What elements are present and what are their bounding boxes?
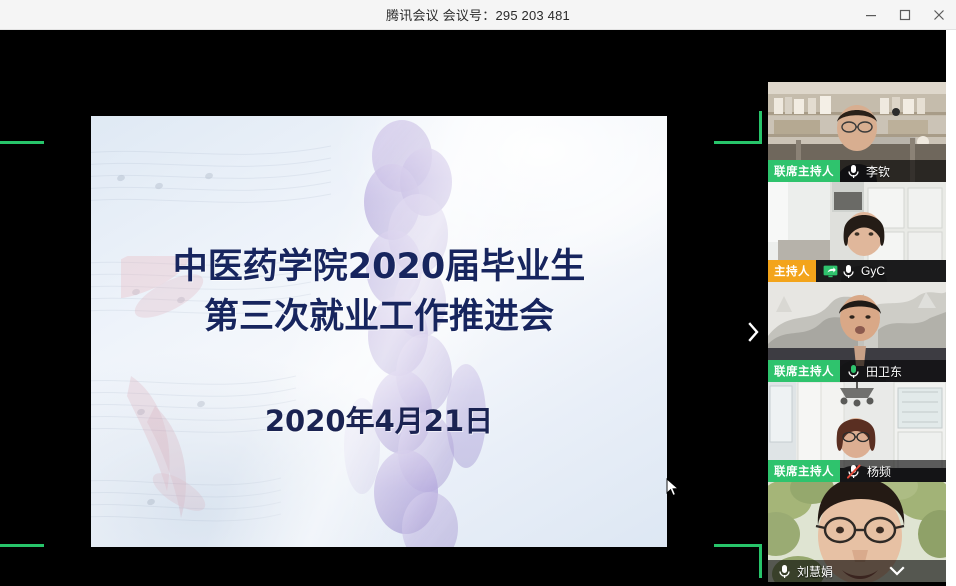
participant-role-badge: 主持人 [768, 260, 816, 282]
mouse-pointer-icon [666, 478, 680, 498]
window-title-bar: 腾讯会议 会议号：295 203 481 [0, 0, 956, 30]
participant-filmstrip[interactable]: 联席主持人 李钦 [768, 82, 946, 586]
microphone-active-icon [847, 364, 860, 379]
participant-tile[interactable]: 联席主持人 李钦 [768, 82, 946, 182]
participant-name: 刘慧娟 [797, 563, 833, 580]
microphone-muted-icon [847, 464, 861, 479]
window-title: 腾讯会议 会议号：295 203 481 [386, 5, 570, 24]
participant-status-icons [778, 564, 791, 579]
participant-status-icons [823, 264, 855, 279]
next-slide-button[interactable] [744, 316, 764, 348]
focus-bracket-bottom-right [714, 544, 762, 578]
participant-status-icons [847, 364, 860, 379]
participant-tile[interactable]: 联席主持人 杨频 [768, 382, 946, 482]
filmstrip-scroll-down-button[interactable] [884, 561, 910, 581]
minimize-icon [865, 9, 877, 21]
participant-name: 李钦 [866, 163, 890, 180]
participant-info-bar: 联席主持人 杨频 [768, 460, 946, 482]
participant-tile[interactable]: 联席主持人 田卫东 [768, 282, 946, 382]
participant-name: 杨频 [867, 463, 891, 480]
participant-status-icons [847, 164, 860, 179]
slide-title-line-1: 中医药学院2020届毕业生 [173, 244, 585, 290]
participant-info-bar: 刘慧娟 [768, 560, 946, 582]
focus-bracket-top-left [0, 141, 44, 144]
microphone-icon [847, 164, 860, 179]
participant-info-bar: 主持人 GyC [768, 260, 946, 282]
chevron-down-icon [889, 566, 905, 576]
slide-date: 2020年4月21日 [265, 398, 493, 440]
window-right-edge [946, 30, 956, 586]
chevron-right-icon [747, 321, 761, 343]
slide-title-line-2: 第三次就业工作推进会 [204, 294, 554, 340]
maximize-button[interactable] [888, 0, 922, 30]
participant-role-badge: 联席主持人 [768, 460, 840, 482]
microphone-icon [778, 564, 791, 579]
screen-share-icon [823, 265, 838, 278]
participant-role-badge: 联席主持人 [768, 160, 840, 182]
slide-text-block: 中医药学院2020届毕业生 第三次就业工作推进会 2020年4月21日 [91, 116, 667, 547]
tencent-meeting-window: 腾讯会议 会议号：295 203 481 [0, 0, 956, 586]
presentation-slide: 中医药学院2020届毕业生 第三次就业工作推进会 2020年4月21日 [91, 116, 667, 547]
participant-name: 田卫东 [866, 363, 902, 380]
microphone-icon [842, 264, 855, 279]
focus-bracket-top-right [714, 111, 762, 144]
minimize-button[interactable] [854, 0, 888, 30]
participant-status-icons [847, 464, 861, 479]
window-controls [854, 0, 956, 30]
participant-name: GyC [861, 264, 885, 278]
participant-tile[interactable]: 主持人 GyC [768, 182, 946, 282]
close-icon [933, 9, 945, 21]
maximize-icon [899, 9, 911, 21]
participant-tile[interactable]: 刘慧娟 [768, 482, 946, 582]
participant-role-badge: 联席主持人 [768, 360, 840, 382]
participant-info-bar: 联席主持人 李钦 [768, 160, 946, 182]
close-button[interactable] [922, 0, 956, 30]
participant-info-bar: 联席主持人 田卫东 [768, 360, 946, 382]
focus-bracket-bottom-left [0, 544, 44, 547]
